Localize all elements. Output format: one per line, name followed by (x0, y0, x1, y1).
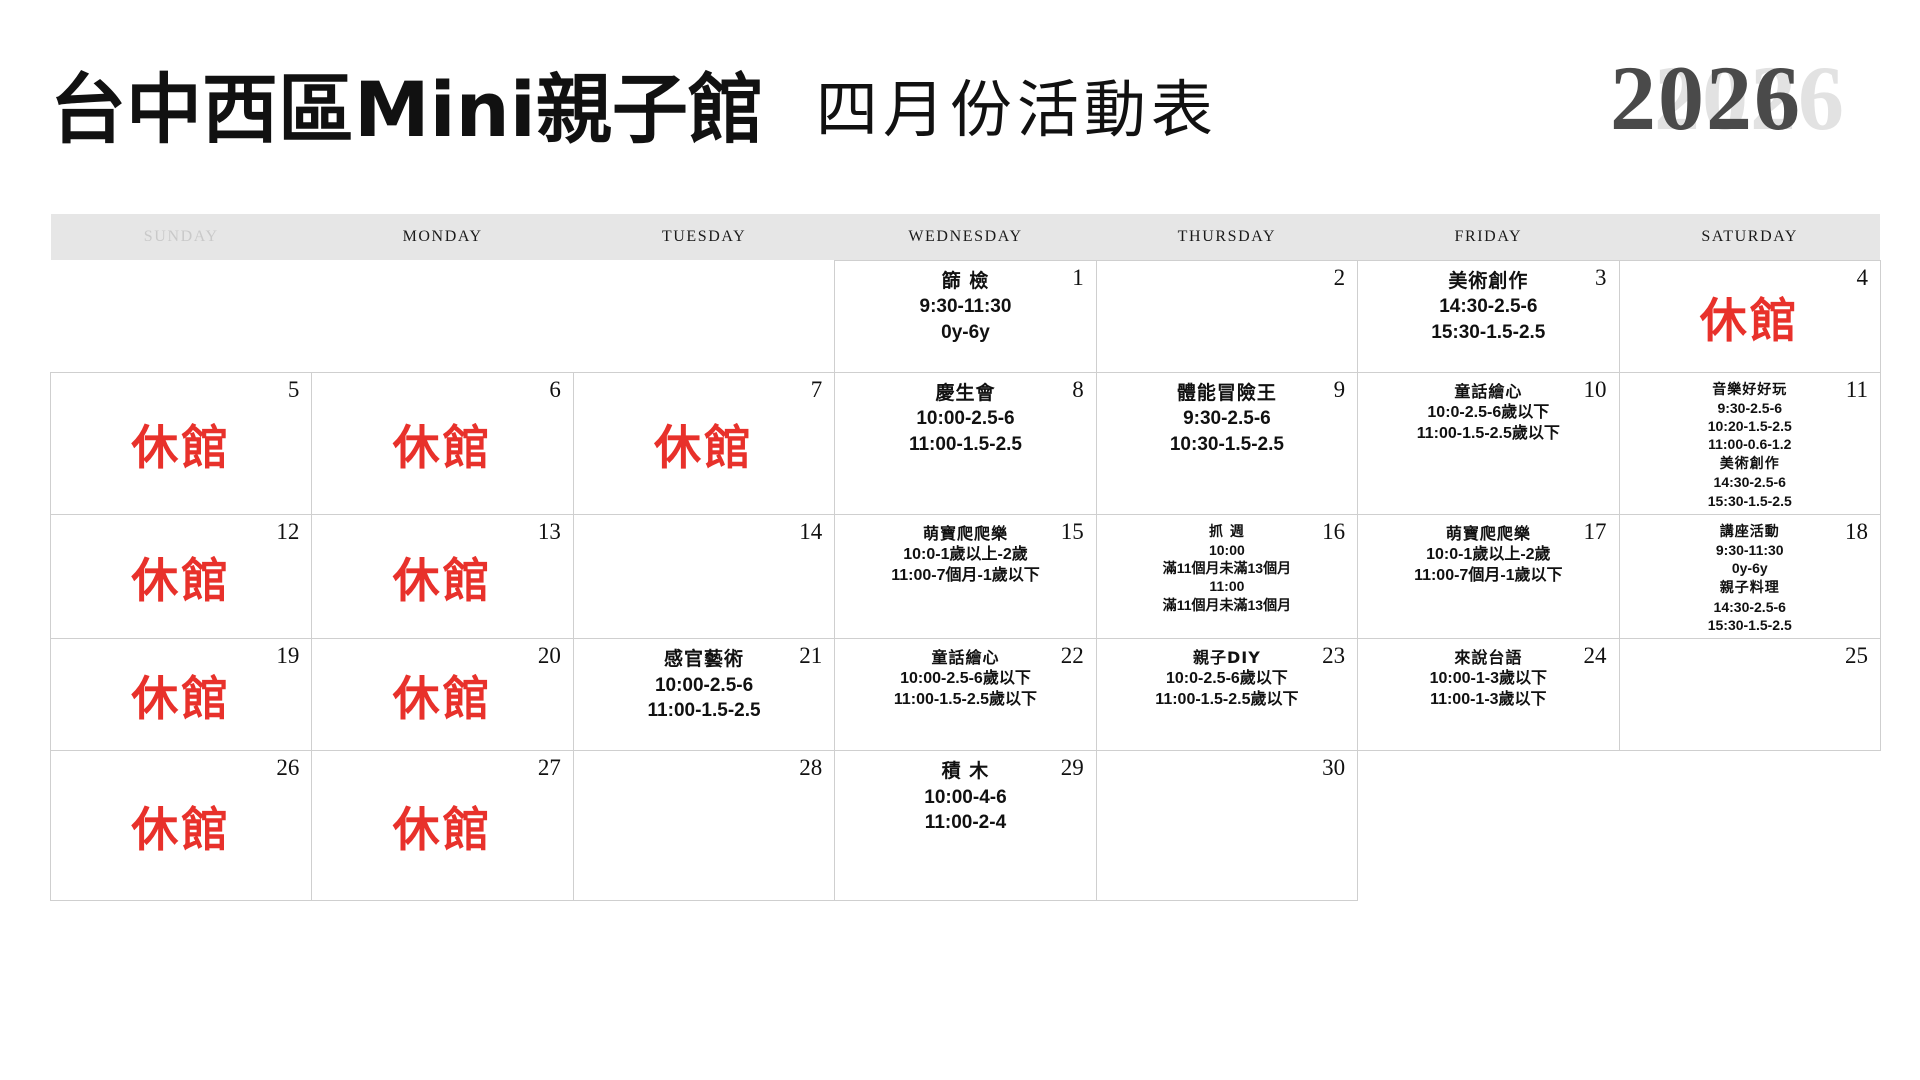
event-detail-line: 11:00-7個月-1歲以下 (1368, 565, 1608, 586)
closed-label: 休館 (61, 643, 301, 746)
calendar-week-row: 1篩 檢9:30-11:300y-6y23美術創作14:30-2.5-615:3… (51, 260, 1881, 372)
event-list: 慶生會10:00-2.5-611:00-1.5-2.5 (845, 377, 1085, 458)
event-detail-line: 14:30-2.5-6 (1630, 598, 1870, 616)
calendar-cell-day-22[interactable]: 22童話繪心10:00-2.5-6歲以下11:00-1.5-2.5歲以下 (835, 638, 1096, 750)
day-number: 16 (1322, 519, 1345, 544)
day-number: 28 (799, 755, 822, 780)
calendar-cell-day-9[interactable]: 9體能冒險王9:30-2.5-610:30-1.5-2.5 (1096, 372, 1357, 514)
event-detail-line: 11:00-1.5-2.5 (845, 432, 1085, 458)
day-number: 30 (1322, 755, 1345, 780)
event-detail-line: 11:00-2-4 (845, 810, 1085, 836)
event-detail-line: 滿11個月未滿13個月 (1107, 596, 1347, 614)
weekday-header-sunday: SUNDAY (51, 214, 312, 260)
day-number: 13 (538, 519, 561, 544)
calendar-cell-day-25[interactable]: 25 (1619, 638, 1880, 750)
event-list: 積 木10:00-4-611:00-2-4 (845, 755, 1085, 836)
event-detail-line: 10:20-1.5-2.5 (1630, 417, 1870, 435)
day-number: 29 (1061, 755, 1084, 780)
event-detail-line: 10:00-2.5-6 (584, 673, 824, 699)
event-detail-line: 10:0-1歲以上-2歲 (845, 544, 1085, 565)
day-number: 7 (811, 377, 823, 402)
event-group: 積 木10:00-4-611:00-2-4 (845, 759, 1085, 836)
event-title: 美術創作 (1630, 455, 1870, 473)
day-number: 14 (799, 519, 822, 544)
day-number: 20 (538, 643, 561, 668)
event-detail-line: 10:00-2.5-6 (845, 406, 1085, 432)
calendar-cell-day-8[interactable]: 8慶生會10:00-2.5-611:00-1.5-2.5 (835, 372, 1096, 514)
event-title: 抓 週 (1107, 523, 1347, 541)
event-group: 來說台語10:00-1-3歲以下11:00-1-3歲以下 (1368, 647, 1608, 710)
event-group: 體能冒險王9:30-2.5-610:30-1.5-2.5 (1107, 381, 1347, 458)
page-title: 台中西區Mini親子館 (50, 72, 764, 148)
calendar-cell-day-24[interactable]: 24來說台語10:00-1-3歲以下11:00-1-3歲以下 (1358, 638, 1619, 750)
event-group: 美術創作14:30-2.5-615:30-1.5-2.5 (1630, 455, 1870, 510)
calendar-cell-day-10[interactable]: 10童話繪心10:0-2.5-6歲以下11:00-1.5-2.5歲以下 (1358, 372, 1619, 514)
calendar-cell-day-11[interactable]: 11音樂好好玩9:30-2.5-610:20-1.5-2.511:00-0.6-… (1619, 372, 1880, 514)
event-group: 童話繪心10:0-2.5-6歲以下11:00-1.5-2.5歲以下 (1368, 381, 1608, 444)
calendar-cell-empty (1358, 750, 1619, 900)
event-detail-line: 11:00-7個月-1歲以下 (845, 565, 1085, 586)
calendar-cell-day-4[interactable]: 4休館 (1619, 260, 1880, 372)
calendar-cell-day-14[interactable]: 14 (573, 514, 834, 638)
weekday-header-thursday: THURSDAY (1096, 214, 1357, 260)
event-list: 親子DIY10:0-2.5-6歲以下11:00-1.5-2.5歲以下 (1107, 643, 1347, 710)
day-number: 22 (1061, 643, 1084, 668)
event-group: 美術創作14:30-2.5-615:30-1.5-2.5 (1368, 269, 1608, 346)
event-detail-line: 0y-6y (1630, 559, 1870, 577)
event-list: 感官藝術10:00-2.5-611:00-1.5-2.5 (584, 643, 824, 724)
event-list: 來說台語10:00-1-3歲以下11:00-1-3歲以下 (1368, 643, 1608, 710)
calendar-cell-empty (1619, 750, 1880, 900)
day-number: 26 (276, 755, 299, 780)
calendar-page: 台中西區Mini親子館 四月份活動表 2026 2026 SUNDAYMONDA… (0, 0, 1920, 1080)
closed-label: 休館 (322, 755, 562, 896)
calendar-cell-day-5[interactable]: 5休館 (51, 372, 312, 514)
event-detail-line: 9:30-2.5-6 (1107, 406, 1347, 432)
calendar-cell-day-2[interactable]: 2 (1096, 260, 1357, 372)
calendar-cell-day-23[interactable]: 23親子DIY10:0-2.5-6歲以下11:00-1.5-2.5歲以下 (1096, 638, 1357, 750)
calendar-cell-day-3[interactable]: 3美術創作14:30-2.5-615:30-1.5-2.5 (1358, 260, 1619, 372)
day-number: 11 (1846, 377, 1868, 402)
year-text: 2026 (1610, 52, 1802, 144)
calendar-cell-day-26[interactable]: 26休館 (51, 750, 312, 900)
event-group: 親子料理14:30-2.5-615:30-1.5-2.5 (1630, 579, 1870, 634)
event-list: 童話繪心10:00-2.5-6歲以下11:00-1.5-2.5歲以下 (845, 643, 1085, 710)
day-number: 21 (799, 643, 822, 668)
closed-label: 休館 (61, 755, 301, 896)
event-detail-line: 11:00-1.5-2.5歲以下 (1368, 423, 1608, 444)
event-title: 體能冒險王 (1107, 381, 1347, 407)
weekday-header-monday: MONDAY (312, 214, 573, 260)
event-title: 積 木 (845, 759, 1085, 785)
day-number: 15 (1061, 519, 1084, 544)
event-detail-line: 0y-6y (845, 320, 1085, 346)
calendar-week-row: 12休館13休館1415萌寶爬爬樂10:0-1歲以上-2歲11:00-7個月-1… (51, 514, 1881, 638)
calendar-cell-day-28[interactable]: 28 (573, 750, 834, 900)
event-list: 美術創作14:30-2.5-615:30-1.5-2.5 (1368, 265, 1608, 346)
event-detail-line: 11:00 (1107, 577, 1347, 595)
event-group: 感官藝術10:00-2.5-611:00-1.5-2.5 (584, 647, 824, 724)
event-list: 萌寶爬爬樂10:0-1歲以上-2歲11:00-7個月-1歲以下 (1368, 519, 1608, 586)
calendar-grid: SUNDAYMONDAYTUESDAYWEDNESDAYTHURSDAYFRID… (50, 214, 1881, 901)
event-list (1107, 265, 1347, 269)
event-title: 來說台語 (1368, 647, 1608, 668)
calendar-cell-day-21[interactable]: 21感官藝術10:00-2.5-611:00-1.5-2.5 (573, 638, 834, 750)
event-title: 萌寶爬爬樂 (845, 523, 1085, 544)
event-title: 音樂好好玩 (1630, 381, 1870, 399)
event-detail-line: 14:30-2.5-6 (1368, 294, 1608, 320)
event-detail-line: 10:0-1歲以上-2歲 (1368, 544, 1608, 565)
event-detail-line: 10:00-4-6 (845, 785, 1085, 811)
event-detail-line: 11:00-1.5-2.5 (584, 698, 824, 724)
event-group: 講座活動9:30-11:300y-6y (1630, 523, 1870, 578)
event-detail-line: 10:0-2.5-6歲以下 (1107, 668, 1347, 689)
calendar-week-row: 5休館6休館7休館8慶生會10:00-2.5-611:00-1.5-2.59體能… (51, 372, 1881, 514)
calendar-cell-day-12[interactable]: 12休館 (51, 514, 312, 638)
calendar-cell-day-7[interactable]: 7休館 (573, 372, 834, 514)
day-number: 8 (1072, 377, 1084, 402)
event-list: 萌寶爬爬樂10:0-1歲以上-2歲11:00-7個月-1歲以下 (845, 519, 1085, 586)
event-title: 篩 檢 (845, 269, 1085, 295)
event-detail-line: 15:30-1.5-2.5 (1368, 320, 1608, 346)
page-header: 台中西區Mini親子館 四月份活動表 (50, 52, 1880, 167)
day-number: 9 (1334, 377, 1346, 402)
event-list: 童話繪心10:0-2.5-6歲以下11:00-1.5-2.5歲以下 (1368, 377, 1608, 444)
event-group: 親子DIY10:0-2.5-6歲以下11:00-1.5-2.5歲以下 (1107, 647, 1347, 710)
closed-label: 休館 (1630, 265, 1870, 368)
event-title: 萌寶爬爬樂 (1368, 523, 1608, 544)
day-number: 6 (549, 377, 561, 402)
event-detail-line: 10:00-2.5-6歲以下 (845, 668, 1085, 689)
event-detail-line: 11:00-0.6-1.2 (1630, 435, 1870, 453)
day-number: 2 (1334, 265, 1346, 290)
event-list (584, 519, 824, 523)
day-number: 4 (1856, 265, 1868, 290)
event-title: 童話繪心 (845, 647, 1085, 668)
day-number: 10 (1584, 377, 1607, 402)
calendar-cell-day-29[interactable]: 29積 木10:00-4-611:00-2-4 (835, 750, 1096, 900)
calendar-cell-day-27[interactable]: 27休館 (312, 750, 573, 900)
closed-label: 休館 (61, 377, 301, 510)
event-detail-line: 14:30-2.5-6 (1630, 473, 1870, 491)
event-detail-line: 10:00 (1107, 541, 1347, 559)
weekday-header-row: SUNDAYMONDAYTUESDAYWEDNESDAYTHURSDAYFRID… (51, 214, 1881, 260)
calendar-cell-day-30[interactable]: 30 (1096, 750, 1357, 900)
day-number: 17 (1584, 519, 1607, 544)
event-title: 美術創作 (1368, 269, 1608, 295)
event-detail-line: 9:30-11:30 (845, 294, 1085, 320)
calendar-cell-day-13[interactable]: 13休館 (312, 514, 573, 638)
day-number: 1 (1072, 265, 1084, 290)
event-group: 童話繪心10:00-2.5-6歲以下11:00-1.5-2.5歲以下 (845, 647, 1085, 710)
event-list (1630, 643, 1870, 647)
day-number: 27 (538, 755, 561, 780)
weekday-header-friday: FRIDAY (1358, 214, 1619, 260)
calendar-week-row: 26休館27休館2829積 木10:00-4-611:00-2-430 (51, 750, 1881, 900)
day-number: 18 (1845, 519, 1868, 544)
event-title: 慶生會 (845, 381, 1085, 407)
event-detail-line: 11:00-1.5-2.5歲以下 (845, 689, 1085, 710)
closed-label: 休館 (322, 377, 562, 510)
event-list (1107, 755, 1347, 759)
calendar-cell-empty (573, 260, 834, 372)
event-title: 講座活動 (1630, 523, 1870, 541)
calendar-cell-day-16[interactable]: 16抓 週10:00滿11個月未滿13個月11:00滿11個月未滿13個月 (1096, 514, 1357, 638)
event-detail-line: 10:30-1.5-2.5 (1107, 432, 1347, 458)
event-list: 篩 檢9:30-11:300y-6y (845, 265, 1085, 346)
event-detail-line: 9:30-11:30 (1630, 541, 1870, 559)
event-detail-line: 10:00-1-3歲以下 (1368, 668, 1608, 689)
calendar-cell-day-18[interactable]: 18講座活動9:30-11:300y-6y親子料理14:30-2.5-615:3… (1619, 514, 1880, 638)
event-group: 篩 檢9:30-11:300y-6y (845, 269, 1085, 346)
event-list: 體能冒險王9:30-2.5-610:30-1.5-2.5 (1107, 377, 1347, 458)
day-number: 5 (288, 377, 300, 402)
calendar-cell-day-6[interactable]: 6休館 (312, 372, 573, 514)
event-detail-line: 9:30-2.5-6 (1630, 399, 1870, 417)
day-number: 3 (1595, 265, 1607, 290)
closed-label: 休館 (322, 643, 562, 746)
page-subtitle: 四月份活動表 (816, 79, 1218, 141)
weekday-header-saturday: SATURDAY (1619, 214, 1880, 260)
event-detail-line: 10:0-2.5-6歲以下 (1368, 402, 1608, 423)
event-title: 親子料理 (1630, 579, 1870, 597)
calendar-cell-empty (312, 260, 573, 372)
event-title: 感官藝術 (584, 647, 824, 673)
calendar-cell-empty (51, 260, 312, 372)
event-list: 抓 週10:00滿11個月未滿13個月11:00滿11個月未滿13個月 (1107, 519, 1347, 614)
event-detail-line: 11:00-1.5-2.5歲以下 (1107, 689, 1347, 710)
event-title: 童話繪心 (1368, 381, 1608, 402)
event-group: 慶生會10:00-2.5-611:00-1.5-2.5 (845, 381, 1085, 458)
day-number: 24 (1584, 643, 1607, 668)
event-group: 萌寶爬爬樂10:0-1歲以上-2歲11:00-7個月-1歲以下 (845, 523, 1085, 586)
day-number: 25 (1845, 643, 1868, 668)
day-number: 12 (276, 519, 299, 544)
calendar-cell-day-1[interactable]: 1篩 檢9:30-11:300y-6y (835, 260, 1096, 372)
closed-label: 休館 (61, 519, 301, 634)
weekday-header-tuesday: TUESDAY (573, 214, 834, 260)
event-detail-line: 滿11個月未滿13個月 (1107, 559, 1347, 577)
calendar-cell-day-17[interactable]: 17萌寶爬爬樂10:0-1歲以上-2歲11:00-7個月-1歲以下 (1358, 514, 1619, 638)
event-group: 音樂好好玩9:30-2.5-610:20-1.5-2.511:00-0.6-1.… (1630, 381, 1870, 454)
event-detail-line: 15:30-1.5-2.5 (1630, 616, 1870, 634)
calendar-cell-day-20[interactable]: 20休館 (312, 638, 573, 750)
calendar-cell-day-15[interactable]: 15萌寶爬爬樂10:0-1歲以上-2歲11:00-7個月-1歲以下 (835, 514, 1096, 638)
year-badge: 2026 2026 (1610, 46, 1910, 156)
closed-label: 休館 (584, 377, 824, 510)
event-list: 音樂好好玩9:30-2.5-610:20-1.5-2.511:00-0.6-1.… (1630, 377, 1870, 510)
weekday-header-wednesday: WEDNESDAY (835, 214, 1096, 260)
event-detail-line: 15:30-1.5-2.5 (1630, 492, 1870, 510)
event-list: 講座活動9:30-11:300y-6y親子料理14:30-2.5-615:30-… (1630, 519, 1870, 634)
closed-label: 休館 (322, 519, 562, 634)
calendar-cell-day-19[interactable]: 19休館 (51, 638, 312, 750)
event-title: 親子DIY (1107, 647, 1347, 668)
day-number: 19 (276, 643, 299, 668)
event-group: 萌寶爬爬樂10:0-1歲以上-2歲11:00-7個月-1歲以下 (1368, 523, 1608, 586)
event-group: 抓 週10:00滿11個月未滿13個月11:00滿11個月未滿13個月 (1107, 523, 1347, 614)
event-list (584, 755, 824, 759)
day-number: 23 (1322, 643, 1345, 668)
calendar-week-row: 19休館20休館21感官藝術10:00-2.5-611:00-1.5-2.522… (51, 638, 1881, 750)
event-detail-line: 11:00-1-3歲以下 (1368, 689, 1608, 710)
